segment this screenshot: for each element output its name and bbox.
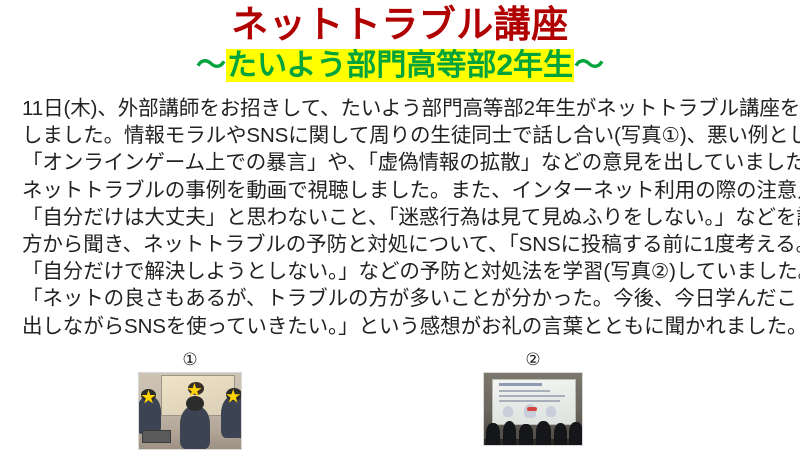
audience-silhouette (486, 423, 500, 445)
title-block: ネットトラブル講座 ～たいよう部門高等部2年生～ (0, 0, 800, 83)
body-line: 「オンラインゲーム上での暴言」や、「虚偽情報の拡散」などの意見を出していました。… (22, 149, 782, 176)
slide-highlight-box (527, 407, 538, 411)
body-line: ネットトラブルの事例を動画で視聴しました。また、インターネット利用の際の注意点と… (22, 177, 782, 204)
page-title: ネットトラブル講座 (0, 4, 800, 47)
body-line: 「自分だけは大丈夫」と思わないこと、「迷惑行為は見て見ぬふりをしない。」などを講… (22, 204, 782, 231)
slide-figure-icon (503, 406, 514, 418)
audience-silhouette (503, 421, 517, 445)
photo-caption-1: ① (138, 350, 242, 372)
student-head (186, 396, 204, 411)
audience-silhouette (569, 422, 583, 445)
slide-text-line (499, 400, 560, 402)
body-line: 方から聞き、ネットトラブルの予防と対処について、「SNSに投稿する前に1度考える… (22, 231, 782, 258)
subtitle-tilde-right: ～ (574, 49, 604, 82)
audience-silhouette (536, 421, 551, 445)
slide-figure-icon (546, 406, 557, 418)
laptop-device (142, 430, 171, 443)
photo-group-2: ② (483, 350, 583, 446)
photo-group-1: ① (138, 350, 242, 450)
body-line: しました。情報モラルやSNSに関して周りの生徒同士で話し合い(写真①)、悪い例と… (22, 122, 782, 149)
body-line: 「自分だけで解決しようとしない。」などの予防と対処法を学習(写真②)していました… (22, 258, 782, 285)
audience-silhouette (554, 423, 568, 445)
student-silhouette (138, 396, 161, 434)
student-silhouette (180, 406, 211, 449)
student-silhouette (221, 396, 242, 439)
page-subtitle: ～たいよう部門高等部2年生～ (0, 48, 800, 83)
body-line: 「ネットの良さもあるが、トラブルの方が多いことが分かった。今後、今日学んだことを… (22, 285, 782, 312)
classroom-students-discussion-photo (138, 372, 242, 450)
article-body: 11日(木)、外部講師をお招きして、たいよう部門高等部2年生がネットトラブル講座… (22, 95, 782, 340)
subtitle-highlighted-text: たいよう部門高等部2年生 (226, 49, 574, 82)
slide-text-line (499, 390, 550, 392)
slide-text-line (499, 395, 565, 397)
body-line: 出しながらSNSを使っていきたい。」という感想がお礼の言葉とともに聞かれました。 (22, 313, 782, 340)
subtitle-tilde-left: ～ (196, 49, 226, 82)
audience-silhouette (519, 424, 533, 445)
photo-caption-2: ② (483, 350, 583, 372)
photo-area: ① ② (0, 348, 800, 450)
slide-title-bar (499, 383, 542, 386)
projection-screen (492, 379, 576, 426)
projector-presentation-lecture-photo (483, 372, 583, 446)
body-line: 11日(木)、外部講師をお招きして、たいよう部門高等部2年生がネットトラブル講座… (22, 95, 782, 122)
